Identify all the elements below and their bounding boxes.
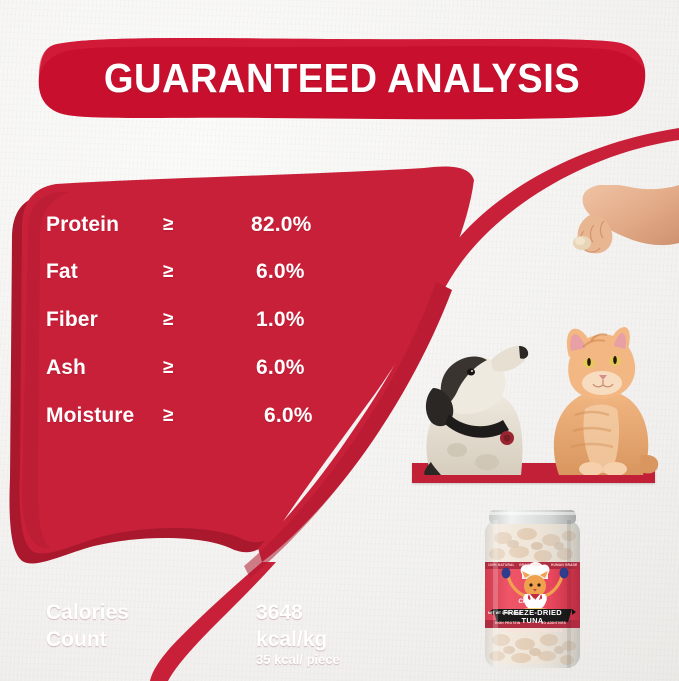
dog-looking-up-icon [415,310,550,475]
jar-strip-bottom-right: NO ADDITIVES [541,621,566,625]
operator-symbol: ≥ [163,261,173,283]
calories-value-number: 3648 [256,599,327,626]
nutrient-label: Ash [46,356,86,380]
table-row: Protein ≥ 82.0% [0,208,360,242]
calories-value-unit: kcal/kg [256,626,327,653]
page-title: GUARANTEED ANALYSIS [58,36,625,120]
table-row: Moisture ≥ 6.0% [0,399,360,433]
calories-label-line1: Calories [46,599,129,626]
nutrient-label: Fat [46,260,78,284]
nutrient-label: Protein [46,213,119,237]
operator-symbol: ≥ [163,309,173,331]
operator-symbol: ≥ [163,214,173,236]
product-jar: Chef Kitty FREEZE-DRIED TUNA YUMMY TREAT… [475,508,590,673]
jar-net-weight: NET WT 1.06oz (30g) [488,611,521,615]
calories-count-label: Calories Count [46,599,129,653]
jar-strip-bottom-left: HIGH PROTEIN [495,621,520,625]
nutrient-label: Fiber [46,308,98,332]
nutrient-value: 82.0% [251,213,312,237]
calories-label-line2: Count [46,626,129,653]
table-row: Fiber ≥ 1.0% [0,303,360,337]
table-row: Fat ≥ 6.0% [0,255,360,289]
nutrient-label: Moisture [46,404,134,428]
nutrient-value: 1.0% [256,308,305,332]
calories-per-piece: 35 kcal/ piece [256,652,340,667]
page-title-banner: GUARANTEED ANALYSIS [37,36,647,120]
operator-symbol: ≥ [163,357,173,379]
jar-strip-right: HUMAN GRADE [551,563,577,567]
jar-subtitle: YUMMY TREAT FOR CATS [475,628,590,633]
guaranteed-analysis-table: Protein ≥ 82.0% Fat ≥ 6.0% Fiber ≥ 1.0% … [0,150,400,570]
nutrient-value: 6.0% [264,404,313,428]
hand-holding-treat-icon [560,185,679,265]
calories-count-value: 3648 kcal/kg [256,599,327,653]
jar-strip-left: 100% NATURAL [488,563,515,567]
jar-strip-center: GRAIN FREE [519,563,541,567]
jar-title-line2: TUNA [475,616,590,625]
orange-cat-looking-up-icon [535,305,665,475]
operator-symbol: ≥ [163,405,173,427]
table-row: Ash ≥ 6.0% [0,351,360,385]
nutrient-value: 6.0% [256,356,305,380]
poster-canvas: GUARANTEED ANALYSIS Protein ≥ 82.0% Fat … [0,0,679,681]
jar-brand-name: Chef Kitty [475,599,590,605]
nutrient-value: 6.0% [256,260,305,284]
